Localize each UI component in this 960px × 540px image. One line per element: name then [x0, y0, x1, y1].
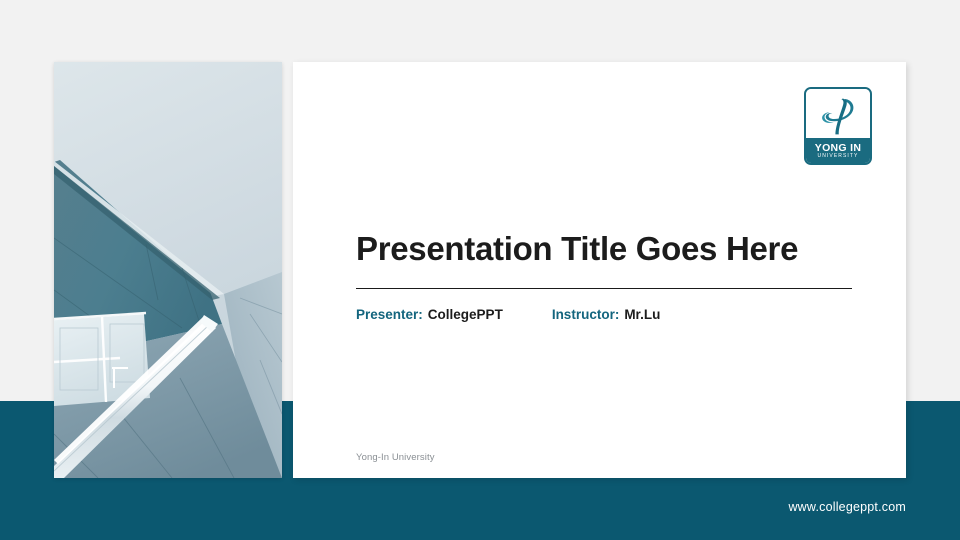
architecture-building-upward-angle-photo: [54, 62, 282, 478]
yong-in-y-leaf-mark-icon: [815, 93, 861, 139]
instructor-group: Instructor: Mr.Lu: [552, 307, 661, 322]
university-logo: YONG IN UNIVERSITY: [804, 87, 872, 165]
presenter-value: CollegePPT: [428, 307, 503, 322]
organization-caption: Yong-In University: [356, 452, 435, 463]
instructor-value: Mr.Lu: [624, 307, 660, 322]
page-title: Presentation Title Goes Here: [356, 230, 798, 268]
title-divider: [356, 288, 852, 289]
footer-website-url: www.collegeppt.com: [788, 500, 906, 514]
architecture-photo: [54, 62, 282, 478]
logo-subtitle: UNIVERSITY: [817, 153, 858, 160]
presentation-slide: www.collegeppt.com: [0, 0, 960, 540]
presenter-label: Presenter:: [356, 307, 423, 322]
presentation-meta-row: Presenter: CollegePPT Instructor: Mr.Lu: [356, 307, 660, 322]
logo-name: YONG IN: [815, 143, 861, 153]
instructor-label: Instructor:: [552, 307, 620, 322]
logo-name-band: YONG IN UNIVERSITY: [806, 138, 870, 163]
logo-mark-area: [806, 89, 870, 143]
presenter-group: Presenter: CollegePPT: [356, 307, 503, 322]
title-content-card: YONG IN UNIVERSITY Presentation Title Go…: [293, 62, 906, 478]
